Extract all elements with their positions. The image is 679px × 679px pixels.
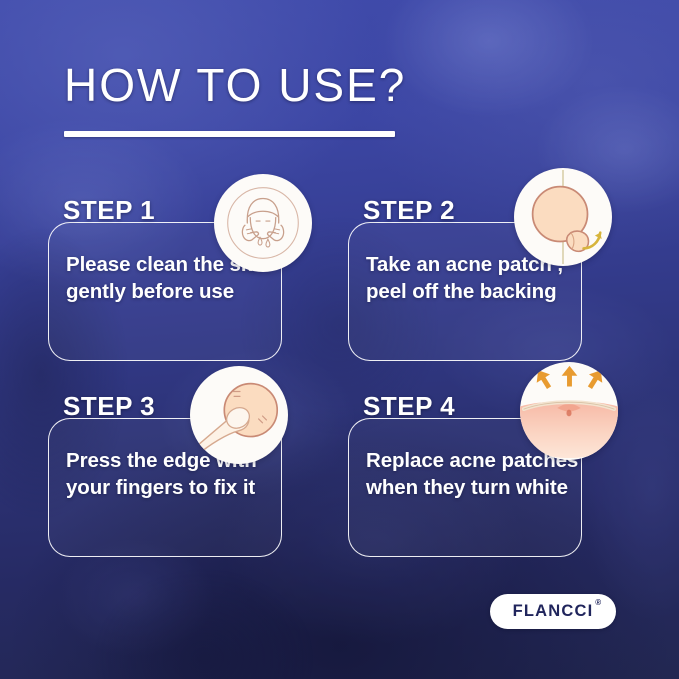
brand-logo: FLANCCI ® xyxy=(490,594,616,629)
step-card-4: STEP 4 Replace acne patches when they tu… xyxy=(348,392,582,557)
finger-press-patch-icon xyxy=(190,366,288,464)
poster: HOW TO USE? STEP 1 Please clean the skin… xyxy=(0,0,679,679)
step-card-2: STEP 2 Take an acne patch , peel off the… xyxy=(348,196,582,361)
step-label-1: STEP 1 xyxy=(63,196,155,225)
step-card-1: STEP 1 Please clean the skin gently befo… xyxy=(48,196,282,361)
registered-trademark-icon: ® xyxy=(595,599,602,607)
peel-patch-icon xyxy=(514,168,612,266)
step-label-3: STEP 3 xyxy=(63,392,155,421)
step-card-3: STEP 3 Press the edge with your fingers … xyxy=(48,392,282,557)
brand-logo-name: FLANCCI xyxy=(513,602,594,620)
brand-logo-text: FLANCCI ® xyxy=(513,603,594,620)
steps-grid: STEP 1 Please clean the skin gently befo… xyxy=(0,0,679,679)
step-label-4: STEP 4 xyxy=(363,392,455,421)
face-washing-icon xyxy=(214,174,312,272)
step-label-2: STEP 2 xyxy=(363,196,455,225)
skin-absorption-arrows-icon xyxy=(520,362,618,460)
